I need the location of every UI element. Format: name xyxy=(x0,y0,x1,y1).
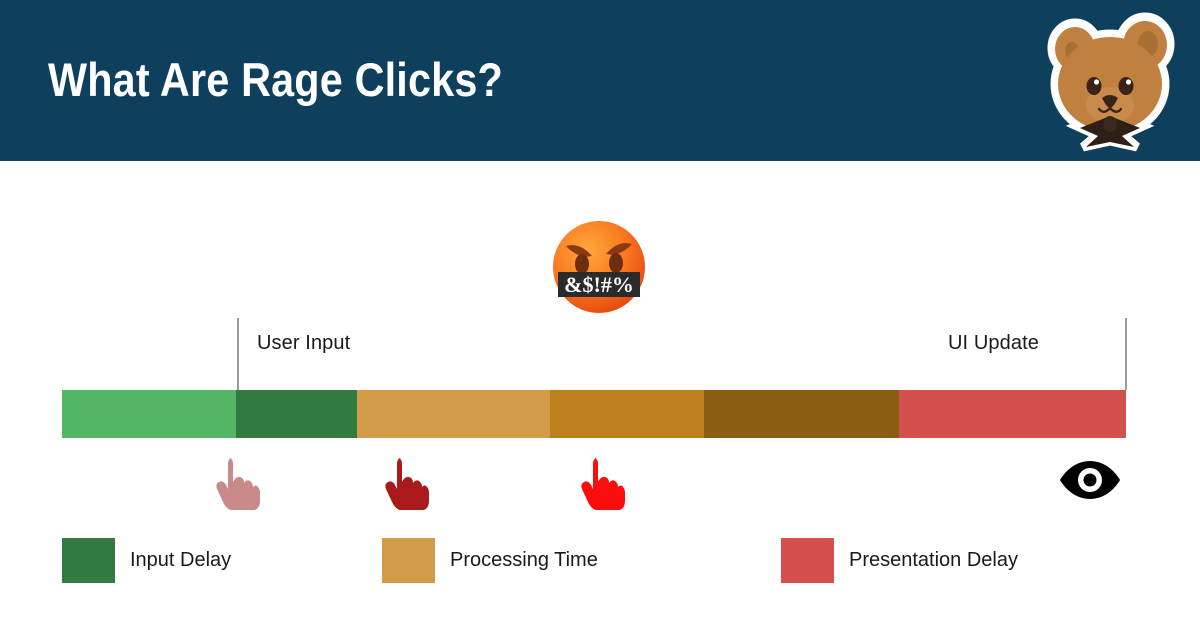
legend-label: Presentation Delay xyxy=(849,549,1018,572)
legend: Input Delay Processing Time Presentation… xyxy=(0,538,1200,598)
pointing-hand-icon xyxy=(374,450,434,510)
legend-item-presentation-delay: Presentation Delay xyxy=(781,538,1018,583)
rage-clicks-infographic: What Are Rage Clicks? xyxy=(0,0,1200,630)
legend-label: Input Delay xyxy=(130,549,231,572)
tick-line-user-input xyxy=(237,318,239,390)
bar-segment xyxy=(62,390,236,438)
tick-label-ui-update: UI Update xyxy=(948,332,1039,355)
bar-segment xyxy=(704,390,900,438)
tick-line-ui-update xyxy=(1125,318,1127,390)
bar-segment xyxy=(899,390,1126,438)
eye-icon xyxy=(1058,455,1122,505)
timeline-bar xyxy=(62,390,1126,438)
legend-item-input-delay: Input Delay xyxy=(62,538,231,583)
face-with-symbols-on-mouth-emoji: &$!#% xyxy=(544,212,654,322)
pointing-hand-icon xyxy=(570,450,630,510)
bar-segment xyxy=(550,390,703,438)
legend-swatch xyxy=(781,538,834,583)
legend-item-processing-time: Processing Time xyxy=(382,538,598,583)
legend-swatch xyxy=(62,538,115,583)
bar-segment xyxy=(236,390,356,438)
pointing-hand-icon xyxy=(205,450,265,510)
bar-segment xyxy=(357,390,551,438)
legend-label: Processing Time xyxy=(450,549,598,572)
censor-text: &$!#% xyxy=(564,272,634,297)
tick-label-user-input: User Input xyxy=(257,332,350,355)
legend-swatch xyxy=(382,538,435,583)
timeline-diagram: &$!#% User Input UI Update xyxy=(0,0,1200,630)
